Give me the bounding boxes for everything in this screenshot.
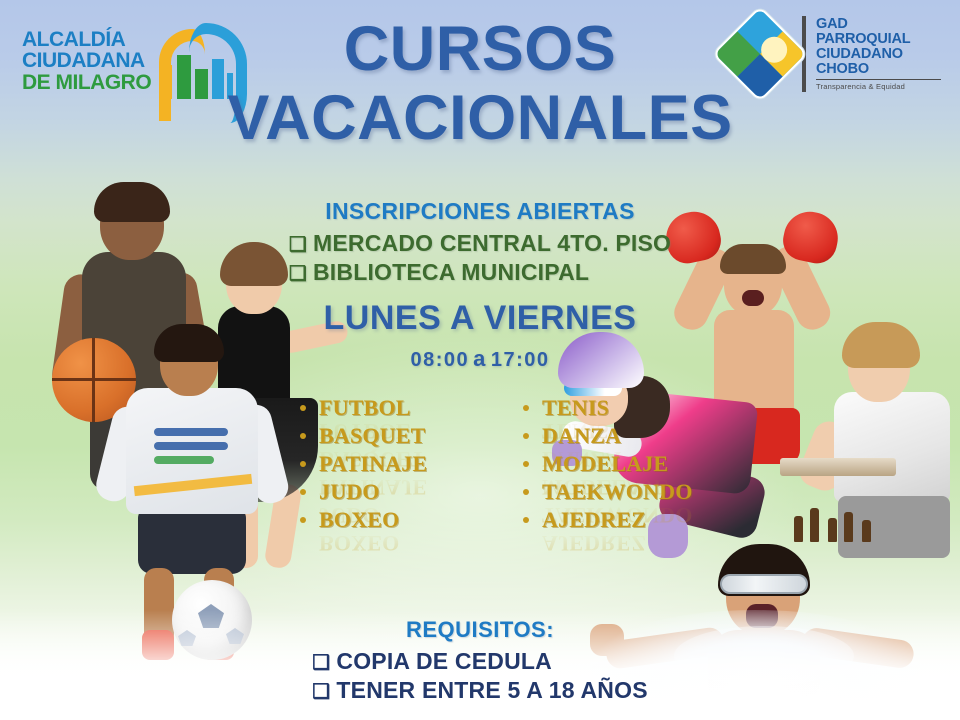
schedule-days: LUNES A VIERNES	[0, 299, 960, 338]
course-item: JUDO JUDO	[300, 480, 477, 508]
gad-sun-icon	[761, 37, 787, 63]
requirement-label: TENER ENTRE 5 A 18 AÑOS	[336, 677, 647, 703]
course-label: MODELAJE	[542, 452, 668, 475]
course-item: MODELAJE MODELAJE	[523, 452, 700, 480]
enrollment-location-item: ❑MERCADO CENTRAL 4TO. PISO	[289, 229, 671, 258]
gad-logo-line3: CIUDADANO	[816, 47, 941, 62]
gad-tagline-rule	[816, 79, 941, 80]
alcaldia-logo-line1: ALCALDÍA	[22, 29, 151, 50]
course-bullet-icon	[523, 405, 529, 411]
course-item: DANZA DANZA	[523, 424, 700, 452]
requirement-label: COPIA DE CEDULA	[336, 648, 552, 674]
swim-goggles-icon	[720, 574, 808, 594]
enrollment-locations-list: ❑MERCADO CENTRAL 4TO. PISO ❑BIBLIOTECA M…	[289, 229, 671, 287]
course-bullet-icon	[300, 489, 306, 495]
alcaldia-signal-mark-icon	[157, 23, 235, 99]
gad-logo-line4: CHOBO	[816, 62, 941, 77]
cursos-vacacionales-poster: ALCALDÍA CIUDADANA DE MILAGRO GAD PARROQ…	[0, 0, 960, 720]
course-bullet-icon	[523, 433, 529, 439]
enrollment-location-label: BIBLIOTECA MUNICIPAL	[313, 259, 589, 285]
course-label: DANZA	[542, 424, 621, 447]
alcaldia-bar-3-icon	[195, 69, 208, 99]
course-item: BASQUET BASQUET	[300, 424, 477, 452]
checkbox-square-icon: ❑	[289, 234, 307, 256]
course-label: JUDO	[319, 480, 380, 503]
course-bullet-icon	[523, 461, 529, 467]
course-item: AJEDREZ AJEDREZ	[523, 508, 700, 536]
jersey-stripe-3	[154, 456, 214, 464]
chess-boy-shirt	[834, 392, 950, 502]
alcaldia-logo-line3: DE MILAGRO	[22, 72, 151, 93]
course-label: BOXEO	[319, 508, 399, 531]
courses-column-left: FUTBOL FUTBOL BASQUET BASQUET PATINAJE P…	[300, 396, 477, 536]
alcaldia-bar-5-icon	[227, 73, 233, 99]
alcaldia-logo-text: ALCALDÍA CIUDADANA DE MILAGRO	[22, 29, 151, 93]
enrollment-info-block: INSCRIPCIONES ABIERTAS ❑MERCADO CENTRAL …	[0, 198, 960, 372]
gad-parroquial-ciudadano-chobo-logo: GAD PARROQUIAL CIUDADANO CHOBO Transpare…	[726, 8, 942, 100]
requirement-item: ❑COPIA DE CEDULA	[312, 647, 647, 677]
gad-logo-tagline: Transparencia & Equidad	[816, 83, 941, 91]
course-label: AJEDREZ	[542, 508, 646, 531]
requirements-title: REQUISITOS:	[0, 617, 960, 643]
alcaldia-logo-line2: CIUDADANA	[22, 50, 151, 71]
course-label: TENIS	[542, 396, 609, 419]
schedule-hours-end: 17:00	[491, 349, 550, 371]
checkbox-square-icon: ❑	[289, 263, 307, 285]
alcaldia-bar-1-icon	[161, 65, 172, 99]
alcaldia-bar-2-icon	[177, 55, 191, 99]
jersey-accent	[134, 474, 252, 496]
course-bullet-icon	[523, 517, 529, 523]
course-item: PATINAJE PATINAJE	[300, 452, 477, 480]
course-item: FUTBOL FUTBOL	[300, 396, 477, 424]
course-bullet-icon	[300, 433, 306, 439]
enrollment-location-label: MERCADO CENTRAL 4TO. PISO	[313, 230, 671, 256]
course-label: FUTBOL	[319, 396, 411, 419]
chess-board-icon	[780, 458, 896, 476]
schedule-hours: 08:00a17:00	[0, 346, 960, 372]
courses-column-right: TENIS TENIS DANZA DANZA MODELAJE MODELAJ…	[523, 396, 700, 536]
requirements-block: REQUISITOS: ❑COPIA DE CEDULA ❑TENER ENTR…	[0, 617, 960, 706]
alcaldia-ciudadana-de-milagro-logo: ALCALDÍA CIUDADANA DE MILAGRO	[22, 18, 242, 104]
soccer-boy-jersey	[126, 388, 258, 514]
enrollment-location-item: ❑BIBLIOTECA MUNICIPAL	[289, 258, 671, 287]
jersey-stripe-2	[154, 442, 228, 450]
gad-logo-line2: PARROQUIAL	[816, 32, 941, 47]
course-bullet-icon	[300, 405, 306, 411]
course-bullet-icon	[300, 517, 306, 523]
soccer-boy-shorts	[138, 508, 246, 574]
gad-diamond-emblem-icon	[712, 6, 808, 102]
courses-list: FUTBOL FUTBOL BASQUET BASQUET PATINAJE P…	[300, 396, 700, 536]
course-label: PATINAJE	[319, 452, 427, 475]
alcaldia-bar-4-icon	[212, 59, 224, 99]
schedule-hours-start: 08:00	[410, 349, 469, 371]
gad-logo-text: GAD PARROQUIAL CIUDADANO CHOBO Transpare…	[816, 17, 941, 90]
course-item: TENIS TENIS	[523, 396, 700, 424]
course-item: TAEKWONDO TAEKWONDO	[523, 480, 700, 508]
schedule-hours-separator: a	[469, 346, 491, 371]
course-label: TAEKWONDO	[542, 480, 693, 503]
checkbox-square-icon: ❑	[312, 652, 330, 674]
inscriptions-title: INSCRIPCIONES ABIERTAS	[0, 198, 960, 225]
gad-logo-line1: GAD	[816, 17, 941, 32]
course-item: BOXEO BOXEO	[300, 508, 477, 536]
checkbox-square-icon: ❑	[312, 681, 330, 703]
course-bullet-icon	[523, 489, 529, 495]
jersey-stripe-1	[154, 428, 228, 436]
course-bullet-icon	[300, 461, 306, 467]
course-label: BASQUET	[319, 424, 426, 447]
requirement-item: ❑TENER ENTRE 5 A 18 AÑOS	[312, 676, 647, 706]
requirements-list: ❑COPIA DE CEDULA ❑TENER ENTRE 5 A 18 AÑO…	[312, 647, 647, 706]
